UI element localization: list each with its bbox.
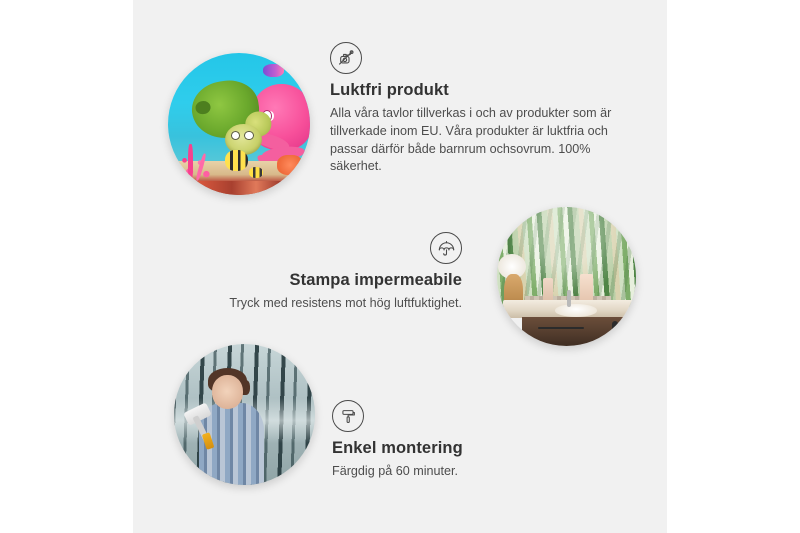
sink-basin [555,304,597,317]
feature-image-odorless [168,53,310,195]
feature-image-waterproof [497,207,636,346]
feature-title: Stampa impermeabile [180,271,462,291]
feature-title: Enkel montering [332,439,602,459]
feature-block-odorless: Luktfri produkt Alla våra tavlor tillver… [330,42,626,176]
faucet [567,290,571,307]
woman-face [212,375,243,409]
feature-block-easy-mounting: Enkel montering Färgdig på 60 minuter. [332,400,602,481]
no-fragrance-spray-icon [330,42,362,74]
icon-row [180,232,462,264]
feature-title: Luktfri produkt [330,81,626,101]
feature-description: Alla våra tavlor tillverkas i och av pro… [330,105,626,177]
forest-mural-photo [174,344,315,485]
underwater-illustration [168,53,310,195]
promo-graphic: Luktfri produkt Alla våra tavlor tillver… [0,0,800,533]
feature-block-waterproof: Stampa impermeabile Tryck med resistens … [180,232,462,313]
feature-description: Färgdig på 60 minuter. [332,463,602,481]
starfish [277,155,303,175]
bathroom-photo [497,207,636,346]
feature-image-easy-mounting [174,344,315,485]
icon-row [332,400,602,432]
striped-fish [225,150,248,171]
paint-roller-icon [332,400,364,432]
purple-fish [263,64,284,77]
wood-cabinet [522,317,636,346]
striped-fish-small [249,167,263,178]
umbrella-icon [430,232,462,264]
coral [177,135,220,180]
feature-description: Tryck med resistens mot hög luftfuktighe… [180,295,462,313]
icon-row [330,42,626,74]
